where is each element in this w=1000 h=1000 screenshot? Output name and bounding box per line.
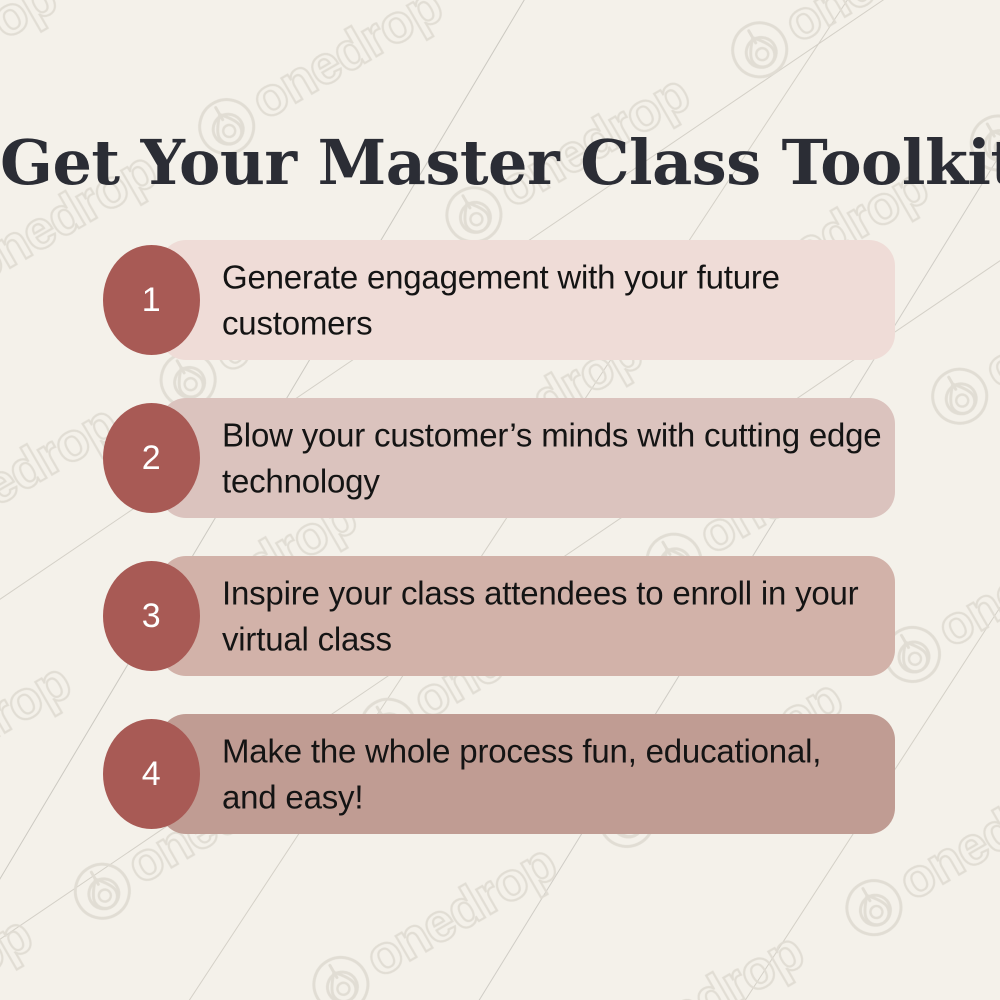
list-item[interactable]: 1 Generate engagement with your future c… xyxy=(0,240,1000,360)
list-item[interactable]: 3 Inspire your class attendees to enroll… xyxy=(0,556,1000,676)
poster-content: Get Your Master Class Toolkit 1 Generate… xyxy=(0,0,1000,1000)
step-text: Make the whole process fun, educational,… xyxy=(222,728,882,819)
step-number-label: 1 xyxy=(142,283,161,317)
step-number-badge: 1 xyxy=(103,245,200,355)
step-text: Blow your customer’s minds with cutting … xyxy=(222,412,882,503)
step-number-label: 3 xyxy=(142,599,161,633)
steps-list: 1 Generate engagement with your future c… xyxy=(0,240,1000,834)
step-number-label: 4 xyxy=(142,757,161,791)
page-title: Get Your Master Class Toolkit xyxy=(0,130,1000,195)
list-item[interactable]: 4 Make the whole process fun, educationa… xyxy=(0,714,1000,834)
list-item[interactable]: 2 Blow your customer’s minds with cuttin… xyxy=(0,398,1000,518)
poster-canvas: onedrop xyxy=(0,0,1000,1000)
step-number-badge: 4 xyxy=(103,719,200,829)
step-number-badge: 3 xyxy=(103,561,200,671)
step-number-badge: 2 xyxy=(103,403,200,513)
step-text: Inspire your class attendees to enroll i… xyxy=(222,570,882,661)
step-number-label: 2 xyxy=(142,441,161,475)
step-text: Generate engagement with your future cus… xyxy=(222,254,882,345)
